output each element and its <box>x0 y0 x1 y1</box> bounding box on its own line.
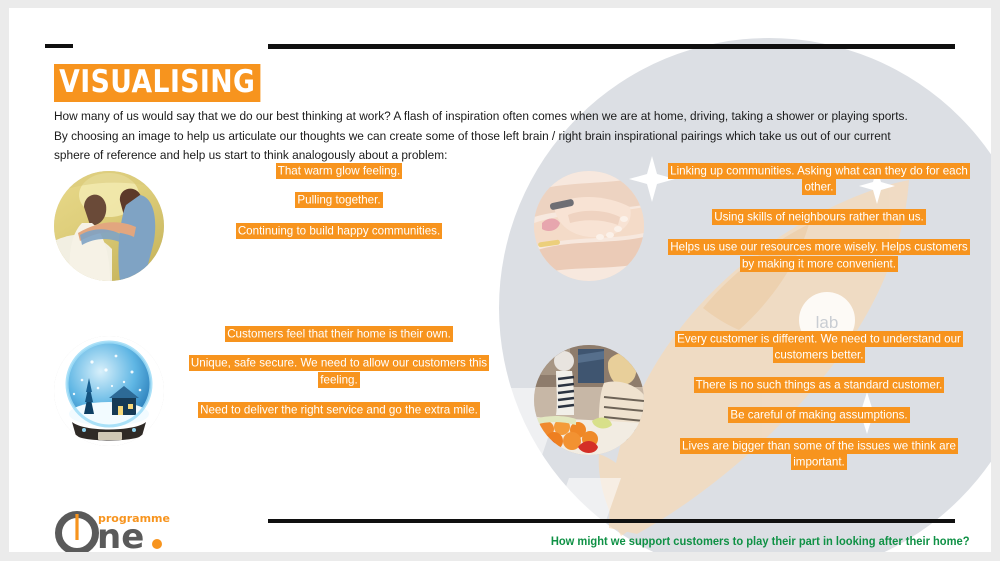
caption-line: Pulling together. <box>184 193 494 210</box>
stacked-hands-photo <box>534 171 644 281</box>
page-title: VISUALISING <box>54 64 260 102</box>
caption-line: Linking up communities. Asking what can … <box>664 163 974 196</box>
snow-globe-photo <box>54 336 164 446</box>
caption-line: Need to deliver the right service and go… <box>184 403 494 420</box>
caption-group: Linking up communities. Asking what can … <box>664 163 974 273</box>
caption-line: Helps us use our resources more wisely. … <box>664 240 974 273</box>
top-rule <box>268 44 955 49</box>
top-rule-accent <box>45 44 73 48</box>
caption-group: Customers feel that their home is their … <box>184 326 494 419</box>
programme-one-logo: ne programme <box>51 505 183 552</box>
slide-canvas: lab VISUALISING How many of <box>9 8 991 552</box>
caption-line: Lives are bigger than some of the issues… <box>664 438 974 471</box>
caption-group: Every customer is different. We need to … <box>664 331 974 471</box>
caption-line: Customers feel that their home is their … <box>184 326 494 343</box>
lab-watermark-text: lab <box>816 313 839 332</box>
caption-line: Unique, safe secure. We need to allow ou… <box>184 356 494 389</box>
footer-question: How might we support customers to play t… <box>551 535 955 548</box>
logo-superscript: programme <box>98 512 170 525</box>
caption-line: Continuing to build happy communities. <box>184 223 494 240</box>
intro-paragraph: How many of us would say that we do our … <box>54 107 914 166</box>
caption-line: Using skills of neighbours rather than u… <box>664 209 974 226</box>
caption-line: There is no such things as a standard cu… <box>664 377 974 394</box>
bottom-rule <box>268 519 955 523</box>
caption-group: That warm glow feeling. Pulling together… <box>184 163 494 240</box>
slide-frame: lab VISUALISING How many of <box>0 0 1000 561</box>
caption-line: That warm glow feeling. <box>184 163 494 180</box>
caption-line: Be careful of making assumptions. <box>664 408 974 425</box>
caption-line: Every customer is different. We need to … <box>664 331 974 364</box>
two-girls-hugging-photo <box>54 171 164 281</box>
market-stall-photo <box>534 345 644 455</box>
